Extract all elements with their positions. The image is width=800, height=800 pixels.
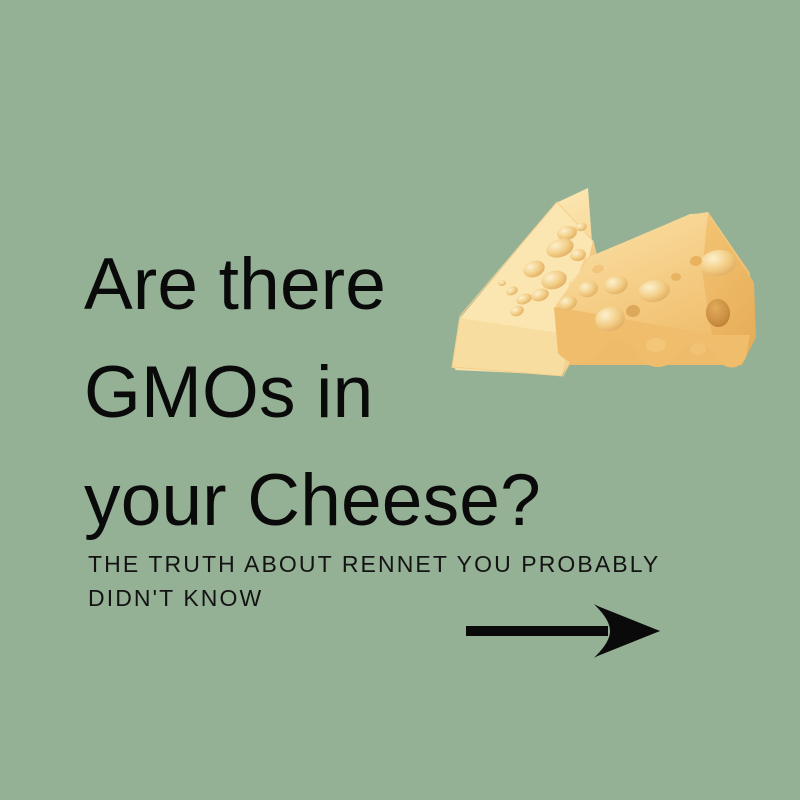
arrow-right-icon[interactable] xyxy=(464,600,669,662)
headline-line-3: your Cheese? xyxy=(84,447,604,555)
headline-line-1: Are there xyxy=(84,231,604,339)
poster-canvas: Are there GMOs in your Cheese? THE TRUTH… xyxy=(0,0,800,800)
headline: Are there GMOs in your Cheese? xyxy=(84,231,604,555)
headline-line-2: GMOs in xyxy=(84,339,604,447)
subtitle-line-1: THE TRUTH ABOUT RENNET YOU PROBABLY xyxy=(88,547,688,581)
